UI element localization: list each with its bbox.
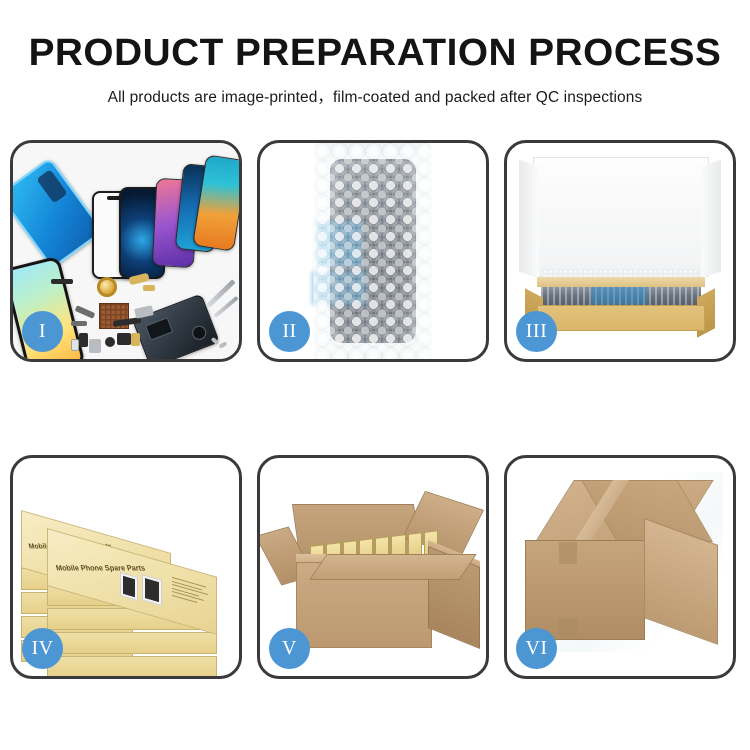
steps-grid: I II <box>10 140 740 679</box>
step-badge-5: V <box>269 628 310 669</box>
spare-part <box>51 279 73 284</box>
step-badge-2: II <box>269 311 310 352</box>
header: PRODUCT PREPARATION PROCESS All products… <box>0 0 750 107</box>
step-badge-3: III <box>516 311 557 352</box>
carton-seam <box>559 618 577 638</box>
step-panel-3: III <box>504 140 736 362</box>
step-badge-1: I <box>22 311 63 352</box>
step-panel-1: I <box>10 140 242 362</box>
spare-part <box>79 333 88 347</box>
carton-seam <box>559 542 577 564</box>
step-panel-5: V <box>257 455 489 679</box>
spare-part <box>143 285 155 291</box>
spare-part <box>117 333 131 345</box>
step-badge-6: VI <box>516 628 557 669</box>
spare-part <box>71 339 79 351</box>
step-panel-2: II <box>257 140 489 362</box>
box-lid-white <box>533 157 709 277</box>
carton-flap-front <box>309 554 477 580</box>
spare-part <box>89 339 101 353</box>
page-title: PRODUCT PREPARATION PROCESS <box>0 34 750 74</box>
spare-part <box>131 333 140 346</box>
speaker-coil-part <box>97 277 117 297</box>
box-label-text: Mobile Phone Spare Parts <box>55 563 146 572</box>
page-subtitle: All products are image-printed，film-coat… <box>0 85 750 107</box>
box-lid-flap-left <box>519 160 539 278</box>
stacked-box <box>47 656 217 676</box>
stacked-box <box>47 632 217 654</box>
blue-film-highlight <box>591 285 647 305</box>
step-panel-6: VI <box>504 455 736 679</box>
box-lid-flap-right <box>701 160 721 278</box>
carton-front <box>525 540 645 640</box>
plastic-sheen <box>313 143 433 359</box>
spare-part <box>71 321 87 326</box>
box-front-kraft <box>537 305 705 331</box>
step-badge-4: IV <box>22 628 63 669</box>
product-preparation-infographic: PRODUCT PREPARATION PROCESS All products… <box>0 0 750 750</box>
step-panel-4: Mobile Phone Spare Parts Mobile Phone Sp… <box>10 455 242 679</box>
box-rim <box>537 277 705 287</box>
spare-part <box>105 337 115 347</box>
